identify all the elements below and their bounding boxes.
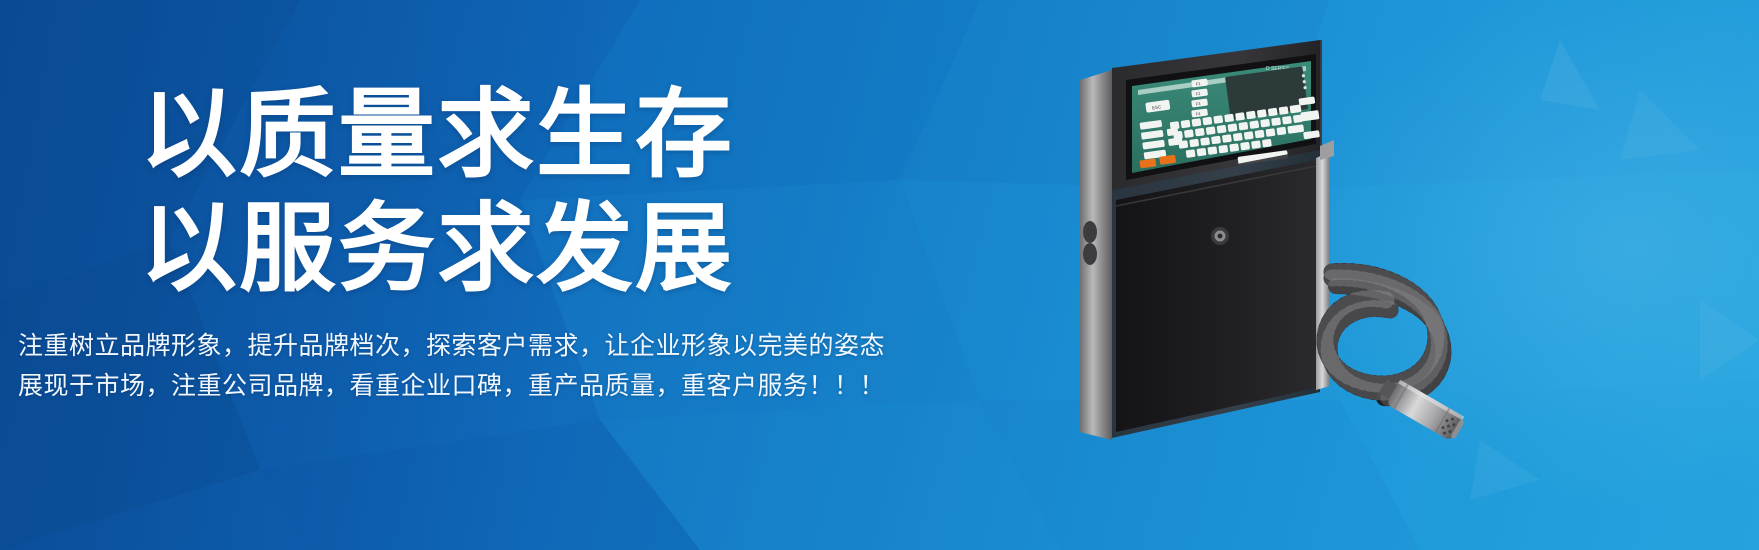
- promo-banner: 以质量求生存 以服务求发展 注重树立品牌形象，提升品牌档次，探索客户需求，让企业…: [0, 0, 1759, 550]
- subtext-line-2: 展现于市场，注重公司品牌，看重企业口碑，重产品质量，重客户服务！！！: [18, 373, 885, 398]
- printer-cabinet: [1112, 140, 1334, 438]
- headline-line-2: 以服务求发展: [140, 200, 734, 297]
- headline-line-1: 以质量求生存: [140, 86, 734, 183]
- printer-umbilical-hose: [1325, 271, 1443, 398]
- subtext-line-1: 注重树立品牌形象，提升品牌档次，探索客户需求，让企业形象以完美的姿态: [18, 333, 885, 358]
- text-block: 以质量求生存 以服务求发展 注重树立品牌形象，提升品牌档次，探索客户需求，让企业…: [0, 0, 1000, 550]
- product-image-inkjet-printer: D SERIES ESC F1 F2: [1020, 40, 1640, 470]
- printer-door-lock[interactable]: [1211, 227, 1229, 245]
- printer-hinge-rail: [1080, 70, 1112, 440]
